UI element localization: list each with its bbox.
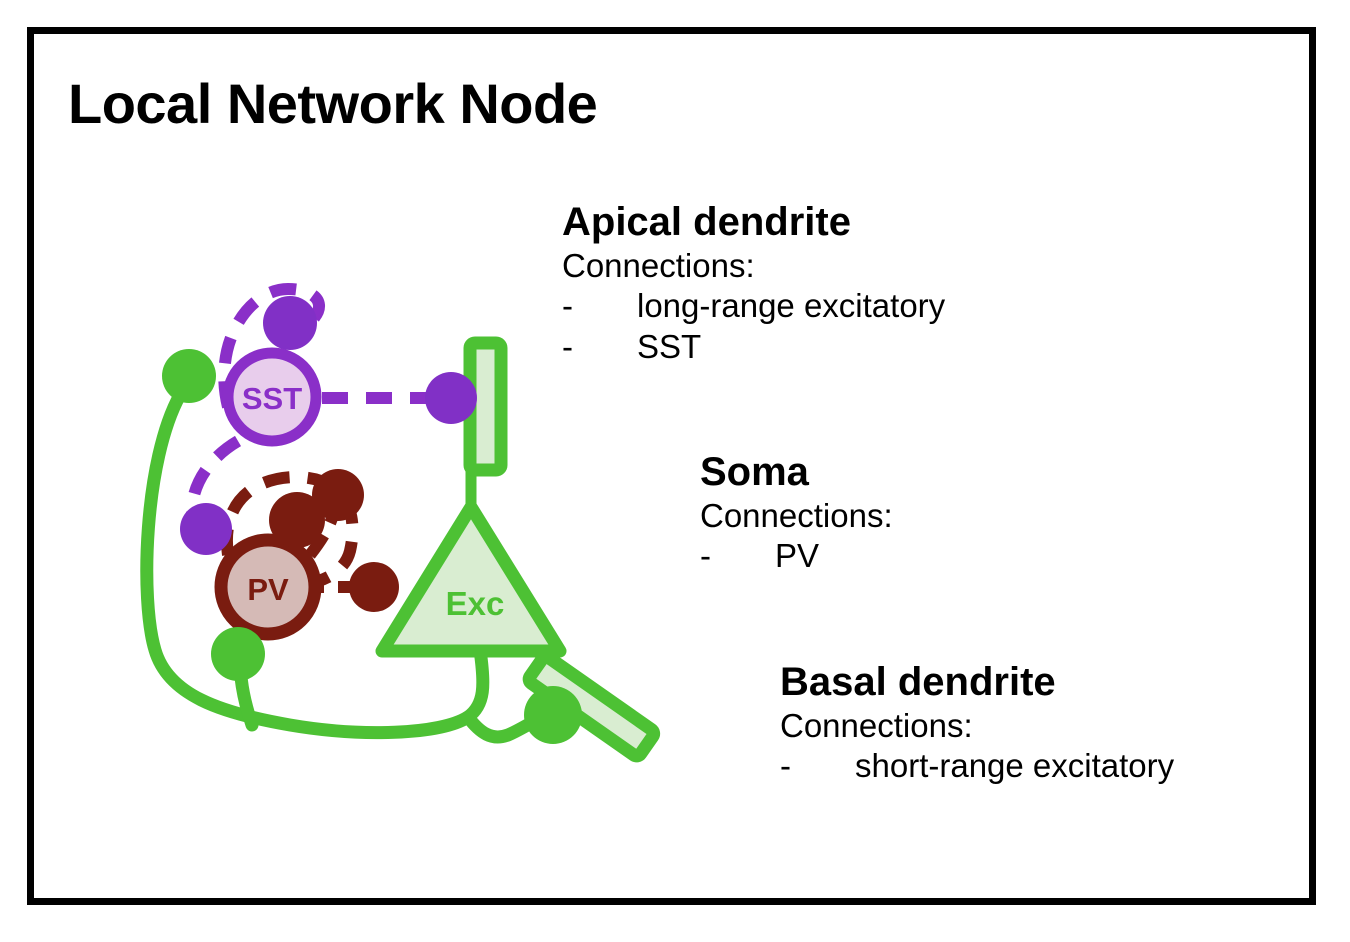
apical-dendrite xyxy=(470,343,501,505)
bullet-text: short-range excitatory xyxy=(855,746,1174,786)
synapse-pv-soma-terminal xyxy=(349,562,399,612)
slide-canvas: Local Network Node xyxy=(0,0,1350,942)
pv-neuron[interactable]: PV xyxy=(221,540,315,634)
section-basal-subtitle: Connections: xyxy=(780,706,1174,746)
sst-neuron[interactable]: SST xyxy=(228,353,316,441)
section-soma-bullet-0: - PV xyxy=(700,536,893,576)
section-apical-bullet-1: - SST xyxy=(562,327,945,367)
exc-neuron-triangle[interactable] xyxy=(382,507,560,651)
bullet-marker: - xyxy=(700,536,775,576)
synapse-sst-self-terminal xyxy=(263,296,317,350)
synapse-sst-pv-terminal xyxy=(180,503,232,555)
exc-neuron[interactable]: Exc xyxy=(382,507,560,651)
bullet-marker: - xyxy=(562,327,637,367)
section-soma-title: Soma xyxy=(700,450,893,494)
bullet-marker: - xyxy=(562,286,637,326)
section-basal-bullet-0: - short-range excitatory xyxy=(780,746,1174,786)
page-title: Local Network Node xyxy=(68,75,597,134)
bullet-text: PV xyxy=(775,536,819,576)
synapse-exc-basal-terminal xyxy=(524,686,582,744)
synapse-pv-self-terminal xyxy=(269,492,325,548)
section-basal-dendrite: Basal dendrite Connections: - short-rang… xyxy=(780,660,1174,787)
section-soma: Soma Connections: - PV xyxy=(700,450,893,577)
synapse-exc-sst-terminal xyxy=(162,349,216,403)
section-apical-dendrite: Apical dendrite Connections: - long-rang… xyxy=(562,200,945,367)
bullet-text: SST xyxy=(637,327,701,367)
section-apical-bullet-0: - long-range excitatory xyxy=(562,286,945,326)
section-basal-title: Basal dendrite xyxy=(780,660,1174,704)
section-soma-subtitle: Connections: xyxy=(700,496,893,536)
synapse-exc-pv-terminal xyxy=(211,627,265,681)
bullet-marker: - xyxy=(780,746,855,786)
synapse-sst-apical-terminal xyxy=(425,372,477,424)
bullet-text: long-range excitatory xyxy=(637,286,945,326)
exc-neuron-label: Exc xyxy=(446,585,505,622)
section-apical-title: Apical dendrite xyxy=(562,200,945,244)
sst-neuron-label: SST xyxy=(242,381,302,416)
section-apical-subtitle: Connections: xyxy=(562,246,945,286)
pv-neuron-label: PV xyxy=(247,572,289,607)
